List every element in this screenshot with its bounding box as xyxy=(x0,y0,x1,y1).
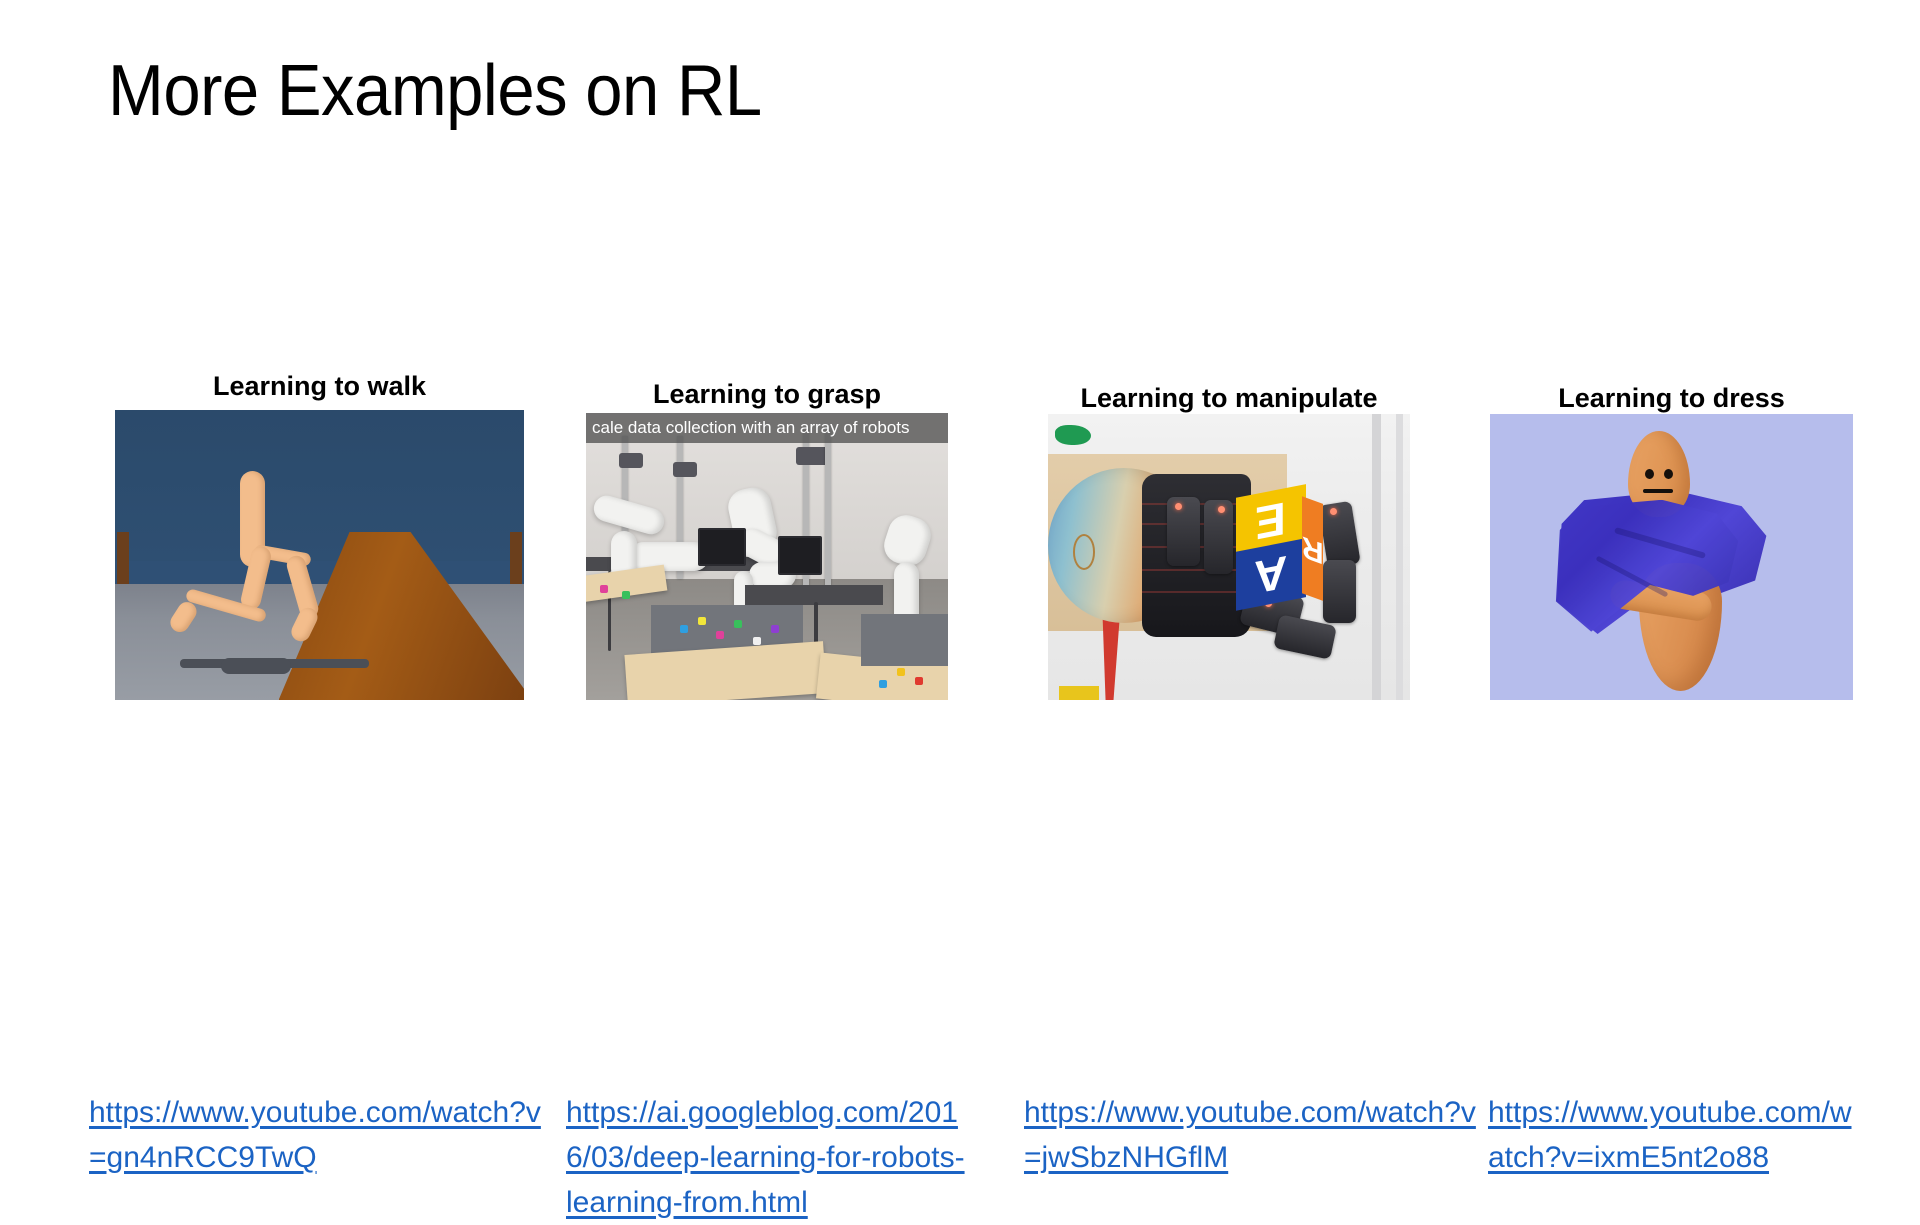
lab-object xyxy=(600,585,608,593)
lab-camera-pole-4 xyxy=(825,430,831,596)
walker-post-left xyxy=(117,532,129,584)
lab-object xyxy=(698,617,706,625)
caption-learning-to-dress: Learning to dress xyxy=(1490,382,1853,414)
panel-learning-to-manipulate: Learning to manipulate xyxy=(1048,382,1410,862)
robot-finger-index xyxy=(1167,497,1200,566)
cube-letter-top: E xyxy=(1256,495,1287,547)
link-learning-to-grasp[interactable]: https://ai.googleblog.com/2016/03/deep-l… xyxy=(566,1090,966,1225)
lab-monitor-1 xyxy=(698,528,745,566)
video-overlay-caption: cale data collection with an array of ro… xyxy=(586,413,948,443)
media-mujoco-walker xyxy=(115,410,524,700)
cube-letter-side: R xyxy=(1302,530,1324,568)
character-eye-right xyxy=(1664,469,1673,479)
palm-vent xyxy=(1142,591,1251,593)
slide-canvas: More Examples on RL Learning to walk htt… xyxy=(0,0,1920,1022)
media-robot-hand: E A R xyxy=(1048,414,1410,700)
robot-forearm-ring xyxy=(1073,534,1095,569)
lab-object xyxy=(734,620,742,628)
dressing-simulation-frame xyxy=(1490,414,1853,700)
robot-arm-1-base xyxy=(629,542,709,571)
robot-lab-photo: cale data collection with an array of ro… xyxy=(586,413,948,700)
caption-learning-to-manipulate: Learning to manipulate xyxy=(1048,382,1410,414)
caption-learning-to-grasp: Learning to grasp xyxy=(586,378,948,410)
lab-object xyxy=(879,680,887,688)
lab-object xyxy=(897,668,905,676)
walker-post-right xyxy=(510,532,522,584)
hand-frame-rail xyxy=(1372,414,1381,700)
robot-thumb xyxy=(1318,500,1360,567)
character-mouth xyxy=(1643,489,1673,493)
link-learning-to-walk[interactable]: https://www.youtube.com/watch?v=gn4nRCC9… xyxy=(89,1090,541,1180)
panel-learning-to-dress: Learning to dress https://www.youtube.co… xyxy=(1490,382,1853,862)
panel-learning-to-walk: Learning to walk https://www.youtube.com… xyxy=(115,370,524,850)
fingertip-led-icon xyxy=(1175,503,1182,510)
lab-object xyxy=(622,591,630,599)
lab-object xyxy=(915,677,923,685)
lab-monitor-2 xyxy=(778,536,822,574)
media-dressing-sim xyxy=(1490,414,1853,700)
panel-learning-to-grasp: Learning to grasp xyxy=(586,378,948,858)
camera-icon xyxy=(619,453,643,468)
caption-learning-to-walk: Learning to walk xyxy=(115,370,524,402)
lab-gray-mat-right xyxy=(861,614,948,666)
lab-object xyxy=(771,625,779,633)
cube-letter-front: A xyxy=(1254,548,1287,600)
hand-frame-rail2 xyxy=(1396,414,1403,700)
page-title: More Examples on RL xyxy=(108,48,762,134)
palm-vent xyxy=(1142,569,1251,571)
character-eye-left xyxy=(1645,469,1654,479)
walker-shadow-blob xyxy=(221,658,291,674)
hand-yellow-strip xyxy=(1059,686,1099,700)
lab-object xyxy=(753,637,761,645)
robot-thumb-lower xyxy=(1323,560,1356,623)
hand-green-object xyxy=(1055,425,1091,445)
fingertip-led-icon xyxy=(1218,506,1225,513)
link-learning-to-dress[interactable]: https://www.youtube.com/watch?v=ixmE5nt2… xyxy=(1488,1090,1854,1180)
cube-face-side: R xyxy=(1302,497,1323,602)
lettered-cube: E A R xyxy=(1236,491,1323,605)
media-robot-arm-farm: cale data collection with an array of ro… xyxy=(586,413,948,700)
lab-object xyxy=(680,625,688,633)
walker-simulation-frame xyxy=(115,410,524,700)
link-learning-to-manipulate[interactable]: https://www.youtube.com/watch?v=jwSbzNHG… xyxy=(1024,1090,1476,1180)
cube-face-front: A xyxy=(1236,538,1306,611)
camera-icon xyxy=(673,462,697,477)
lab-object xyxy=(716,631,724,639)
robot-hand-photo: E A R xyxy=(1048,414,1410,700)
